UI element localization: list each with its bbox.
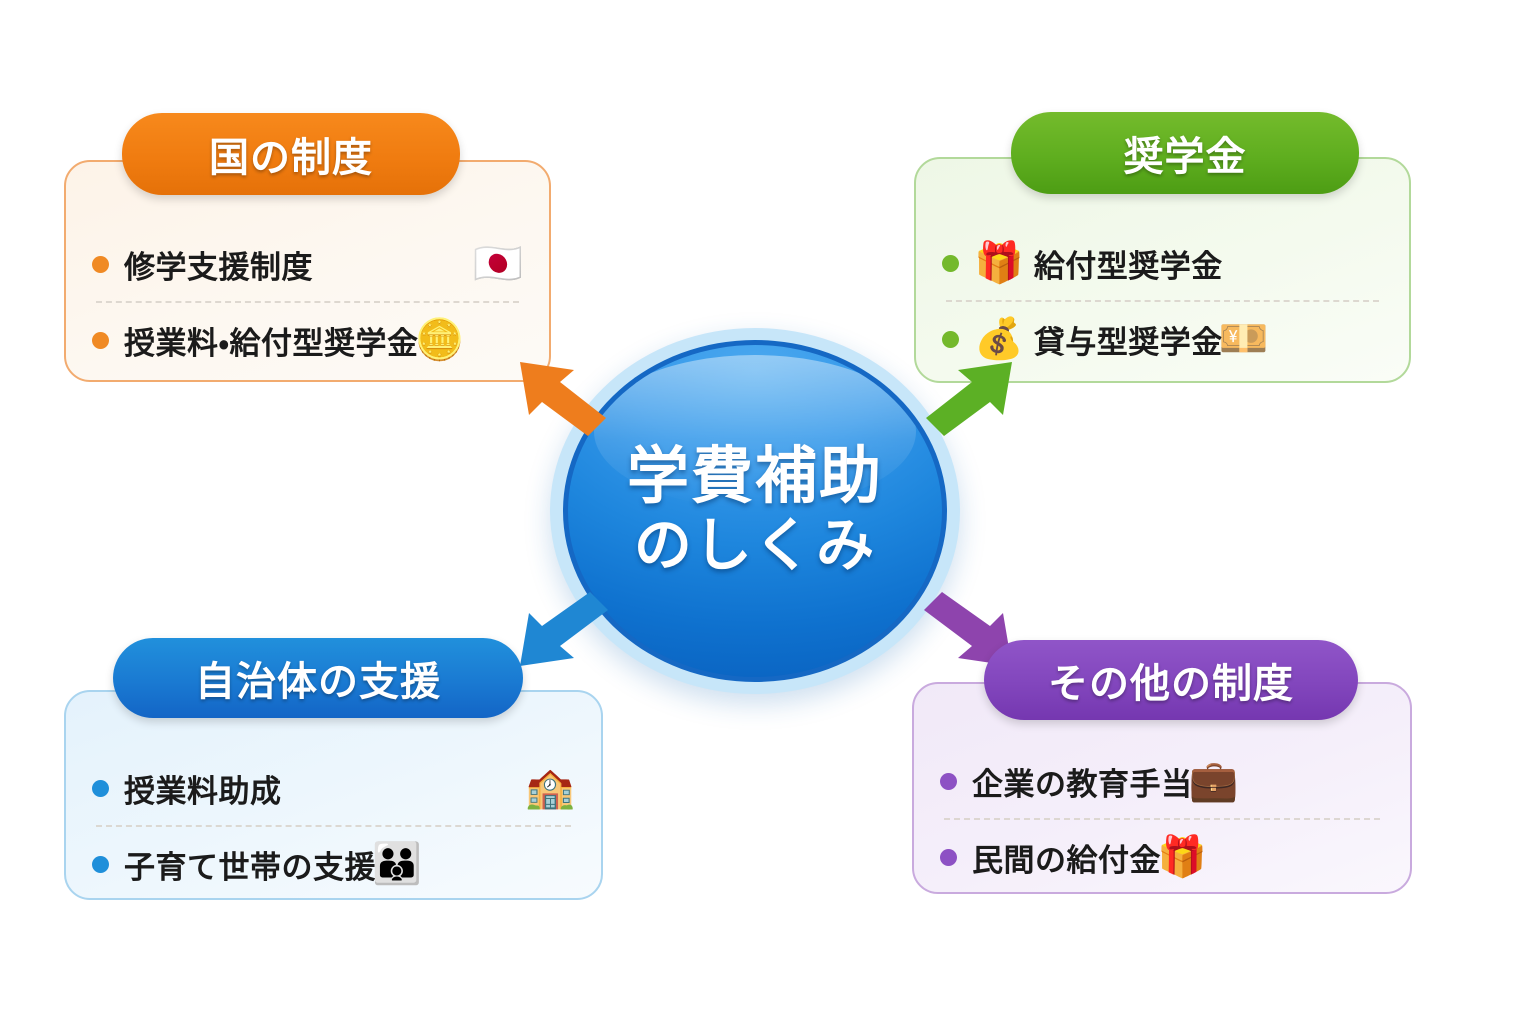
school-building-icon: 🏫 — [525, 768, 575, 808]
bullet-icon — [940, 773, 957, 790]
list-item-label: 授業料助成 — [124, 766, 282, 811]
list-item-label: 修学支援制度 — [124, 242, 313, 287]
card-other-title[interactable]: その他の制度 — [984, 640, 1358, 720]
arrow-to-national — [512, 352, 622, 442]
card-other-body: 企業の教育手当 💼 民間の給付金 🎁 — [914, 746, 1410, 892]
list-item[interactable]: 子育て世帯の支援 👪 — [92, 827, 575, 901]
card-local-body: 授業料助成 🏫 子育て世帯の支援 👪 — [66, 754, 601, 898]
center-title-line1: 学費補助 — [627, 442, 883, 511]
card-national-title[interactable]: 国の制度 — [122, 113, 460, 195]
list-item[interactable]: 授業料・給付型奨学金 🪙 — [92, 303, 523, 377]
list-item[interactable]: 民間の給付金 🎁 — [940, 820, 1384, 894]
arrow-to-local — [512, 586, 624, 676]
list-item[interactable]: 授業料助成 🏫 — [92, 751, 575, 825]
list-item[interactable]: 修学支援制度 🇯🇵 — [92, 227, 523, 301]
donation-box-icon: 🎁 — [1157, 837, 1207, 877]
center-title-line2: のしくみ — [634, 512, 876, 580]
family-icon: 👪 — [372, 844, 422, 884]
card-local-title[interactable]: 自治体の支援 — [113, 638, 523, 718]
bullet-icon — [92, 856, 109, 873]
briefcase-icon: 💼 — [1189, 761, 1239, 801]
coins-icon: 🪙 — [415, 320, 465, 360]
bullet-icon — [942, 255, 959, 272]
card-local[interactable]: 授業料助成 🏫 子育て世帯の支援 👪 — [64, 690, 603, 900]
bullet-icon — [940, 849, 957, 866]
list-item-label: 給付型奨学金 — [1034, 241, 1223, 286]
infographic-canvas: 学費補助 のしくみ 修学支援制度 🇯🇵 授業料・給付型奨学金 🪙 国の制度 — [0, 0, 1536, 1024]
list-item-label: 授業料・給付型奨学金 — [124, 318, 419, 363]
card-national-body: 修学支援制度 🇯🇵 授業料・給付型奨学金 🪙 — [66, 224, 549, 380]
bullet-icon — [92, 332, 109, 349]
arrow-to-scholarship — [910, 352, 1020, 442]
japan-flag-icon: 🇯🇵 — [473, 244, 523, 284]
list-item[interactable]: 企業の教育手当 💼 — [940, 744, 1384, 818]
bullet-icon — [92, 780, 109, 797]
bullet-icon — [92, 256, 109, 273]
list-item-label: 貸与型奨学金 — [1034, 317, 1223, 362]
list-item-label: 子育て世帯の支援 — [124, 842, 376, 887]
gift-icon: 🎁 — [974, 243, 1024, 283]
card-scholarship-title[interactable]: 奨学金 — [1011, 112, 1359, 194]
list-item-label: 企業の教育手当 — [972, 759, 1193, 804]
yen-banknote-icon: 💴 — [1219, 319, 1269, 359]
list-item[interactable]: 🎁 給付型奨学金 — [942, 226, 1383, 300]
list-item-label: 民間の給付金 — [972, 835, 1161, 880]
